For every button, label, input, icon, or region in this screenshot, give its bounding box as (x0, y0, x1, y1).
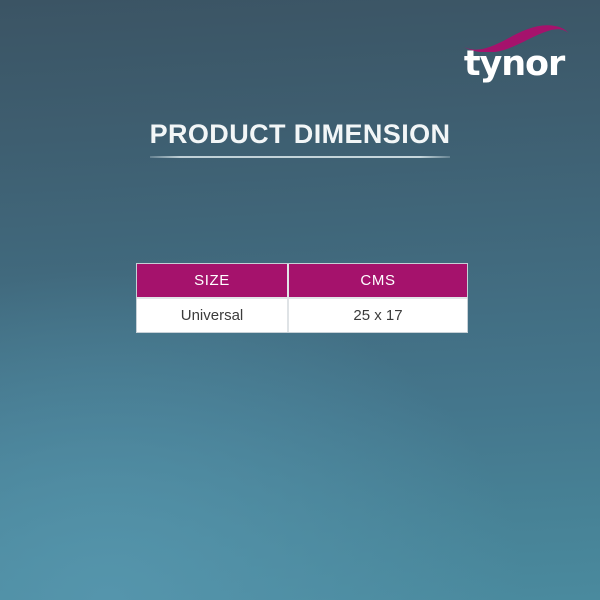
product-dimension-slide: tynor PRODUCT DIMENSION SIZE CMS Univers… (0, 0, 600, 600)
table-row: Universal 25 x 17 (137, 299, 467, 332)
tynor-logo: tynor (455, 22, 573, 84)
tynor-wordmark: tynor (455, 44, 573, 84)
table-body: Universal 25 x 17 (137, 299, 467, 332)
column-header-size: SIZE (137, 264, 289, 299)
table-header-row: SIZE CMS (137, 264, 467, 299)
column-header-cms: CMS (289, 264, 467, 299)
title-underline-divider (150, 156, 450, 158)
product-dimension-table: SIZE CMS Universal 25 x 17 (137, 264, 467, 332)
table-header: SIZE CMS (137, 264, 467, 299)
cell-size-value: Universal (137, 299, 289, 332)
page-title: PRODUCT DIMENSION (0, 118, 600, 150)
title-block: PRODUCT DIMENSION (0, 118, 600, 158)
cell-cms-value: 25 x 17 (289, 299, 467, 332)
